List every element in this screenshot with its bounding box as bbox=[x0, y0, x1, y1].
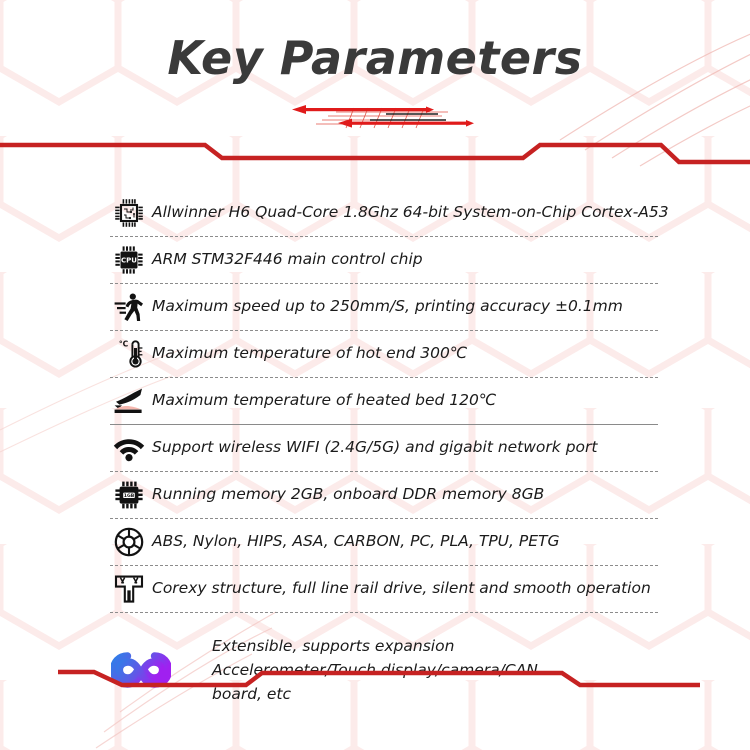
memory-icon-label: 1GB bbox=[124, 493, 135, 499]
thermometer-icon: °C bbox=[110, 335, 148, 373]
cpu-icon-label: CPU bbox=[121, 257, 137, 265]
spec-row-wifi: Support wireless WIFI (2.4G/5G) and giga… bbox=[110, 425, 658, 472]
spec-text-memory: Running memory 2GB, onboard DDR memory 8… bbox=[152, 485, 544, 504]
spec-text-speed: Maximum speed up to 250mm/S, printing ac… bbox=[152, 297, 623, 316]
corexy-gantry-icon bbox=[110, 570, 148, 608]
spec-row-bed-temp: Maximum temperature of heated bed 120℃ bbox=[110, 378, 658, 425]
spec-row-soc: Allwinner H6 Quad-Core 1.8Ghz 64-bit Sys… bbox=[110, 190, 658, 237]
spec-text-mcu: ARM STM32F446 main control chip bbox=[152, 250, 423, 269]
spec-list: Allwinner H6 Quad-Core 1.8Ghz 64-bit Sys… bbox=[110, 190, 658, 707]
top-stepped-rule bbox=[0, 136, 750, 170]
spec-text-wifi: Support wireless WIFI (2.4G/5G) and giga… bbox=[152, 438, 597, 457]
spec-row-corexy: Corexy structure, full line rail drive, … bbox=[110, 566, 658, 613]
wifi-icon bbox=[110, 429, 148, 467]
running-man-icon bbox=[110, 288, 148, 326]
spec-text-corexy: Corexy structure, full line rail drive, … bbox=[152, 579, 651, 598]
spec-row-memory: 1GB Running memory 2GB, onboard DDR memo… bbox=[110, 472, 658, 519]
filament-spool-icon bbox=[110, 523, 148, 561]
page-title: Key Parameters bbox=[167, 34, 582, 84]
memory-chip-icon: 1GB bbox=[110, 476, 148, 514]
spec-text-hotend-temp: Maximum temperature of hot end 300℃ bbox=[152, 344, 467, 363]
bottom-stepped-rule bbox=[0, 664, 750, 712]
spec-text-bed-temp: Maximum temperature of heated bed 120℃ bbox=[152, 391, 496, 410]
key-parameters-page: Key Parameters bbox=[0, 0, 750, 750]
microchip-icon bbox=[110, 194, 148, 232]
heated-bed-icon bbox=[110, 382, 148, 420]
title-arrow-decoration bbox=[278, 96, 478, 140]
spec-text-materials: ABS, Nylon, HIPS, ASA, CARBON, PC, PLA, … bbox=[152, 532, 559, 551]
spec-row-materials: ABS, Nylon, HIPS, ASA, CARBON, PC, PLA, … bbox=[110, 519, 658, 566]
spec-text-soc: Allwinner H6 Quad-Core 1.8Ghz 64-bit Sys… bbox=[152, 203, 669, 222]
spec-row-mcu: CPU ARM STM32F446 main control chip bbox=[110, 237, 658, 284]
cpu-chip-icon: CPU bbox=[110, 241, 148, 279]
page-title-container: Key Parameters bbox=[0, 34, 750, 84]
thermometer-icon-label: °C bbox=[119, 339, 129, 348]
spec-row-speed: Maximum speed up to 250mm/S, printing ac… bbox=[110, 284, 658, 331]
spec-row-hotend-temp: °C Maximum temperature of hot end 300℃ bbox=[110, 331, 658, 378]
